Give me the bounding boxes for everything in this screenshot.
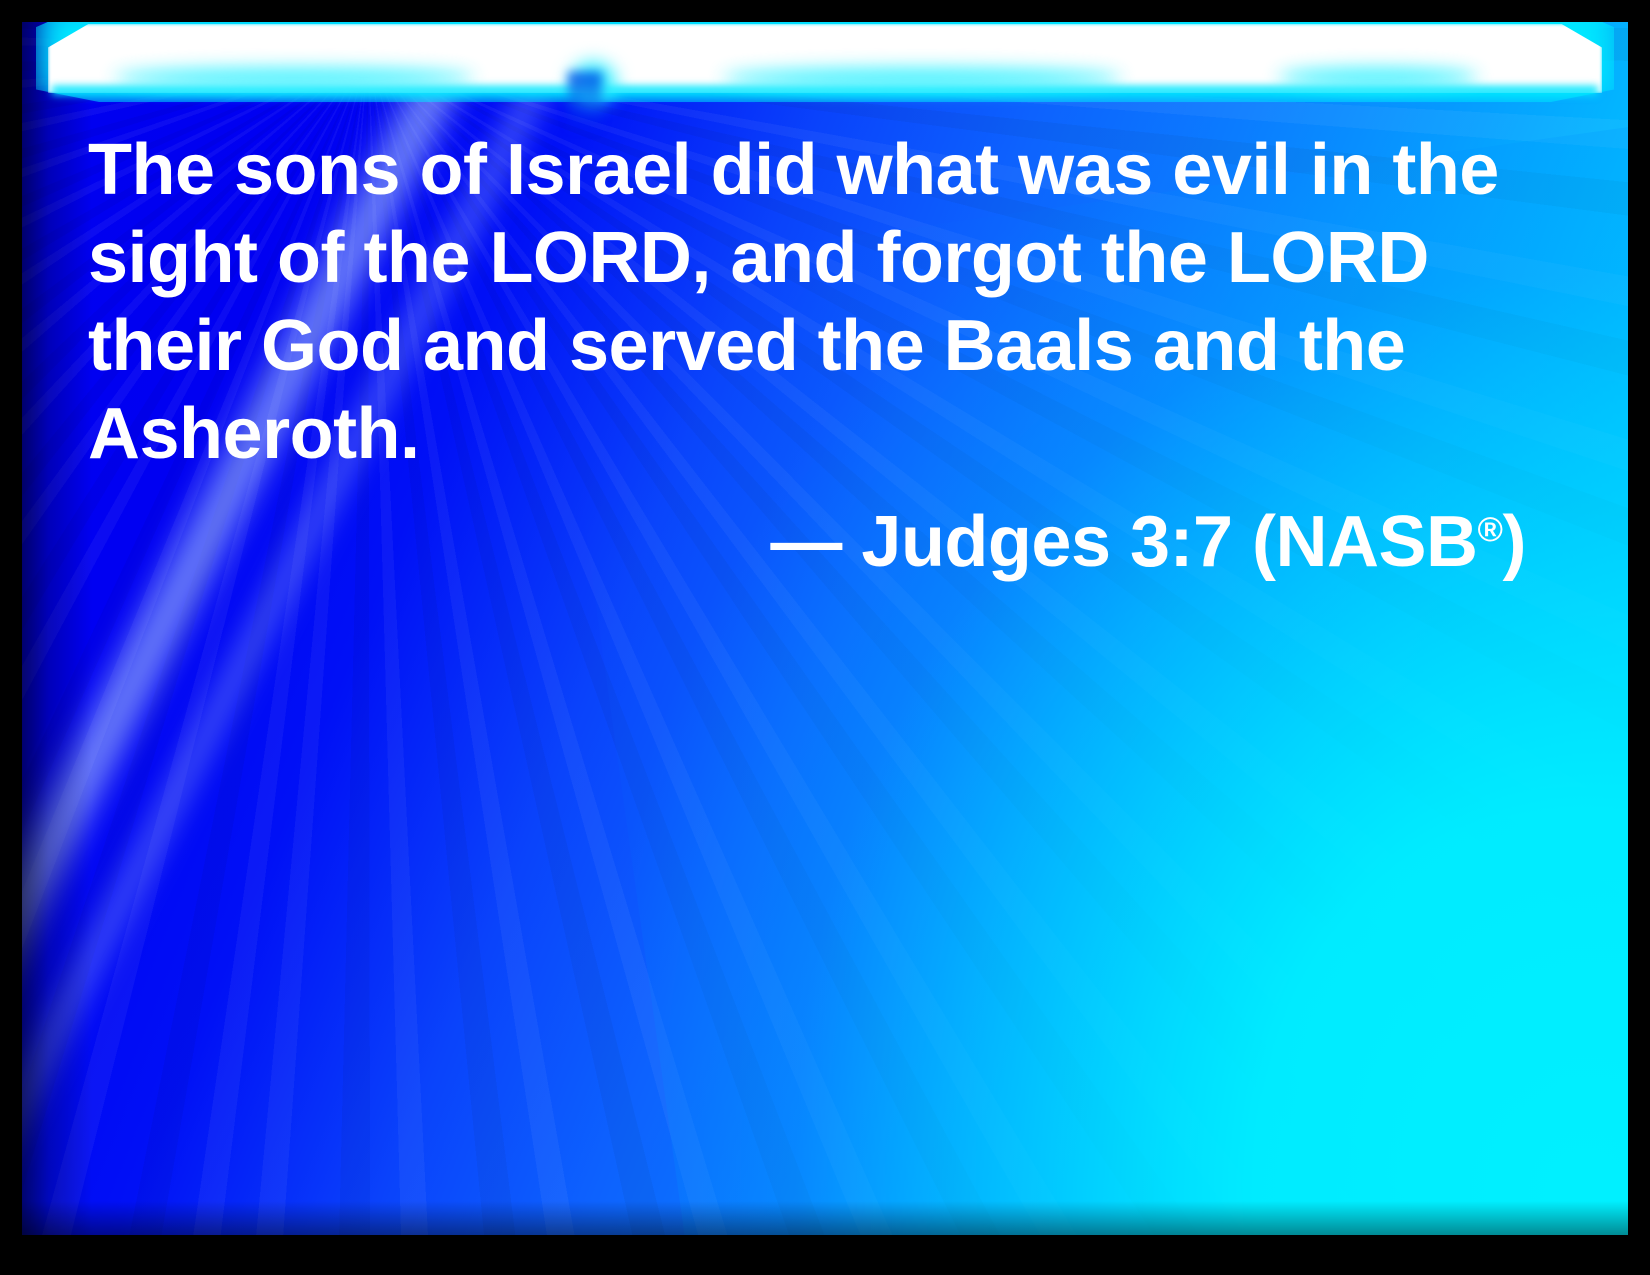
slide-canvas: The sons of Israel did what was evil in … [22,22,1628,1235]
registered-trademark-icon: ® [1478,511,1503,549]
scripture-slide: The sons of Israel did what was evil in … [0,0,1650,1275]
verse-text: The sons of Israel did what was evil in … [88,126,1538,478]
verse-attribution: — Judges 3:7 (NASB®) [88,478,1538,586]
attribution-suffix: ) [1503,502,1526,582]
verse-block: The sons of Israel did what was evil in … [88,126,1538,586]
attribution-prefix: — Judges 3:7 (NASB [770,502,1477,582]
